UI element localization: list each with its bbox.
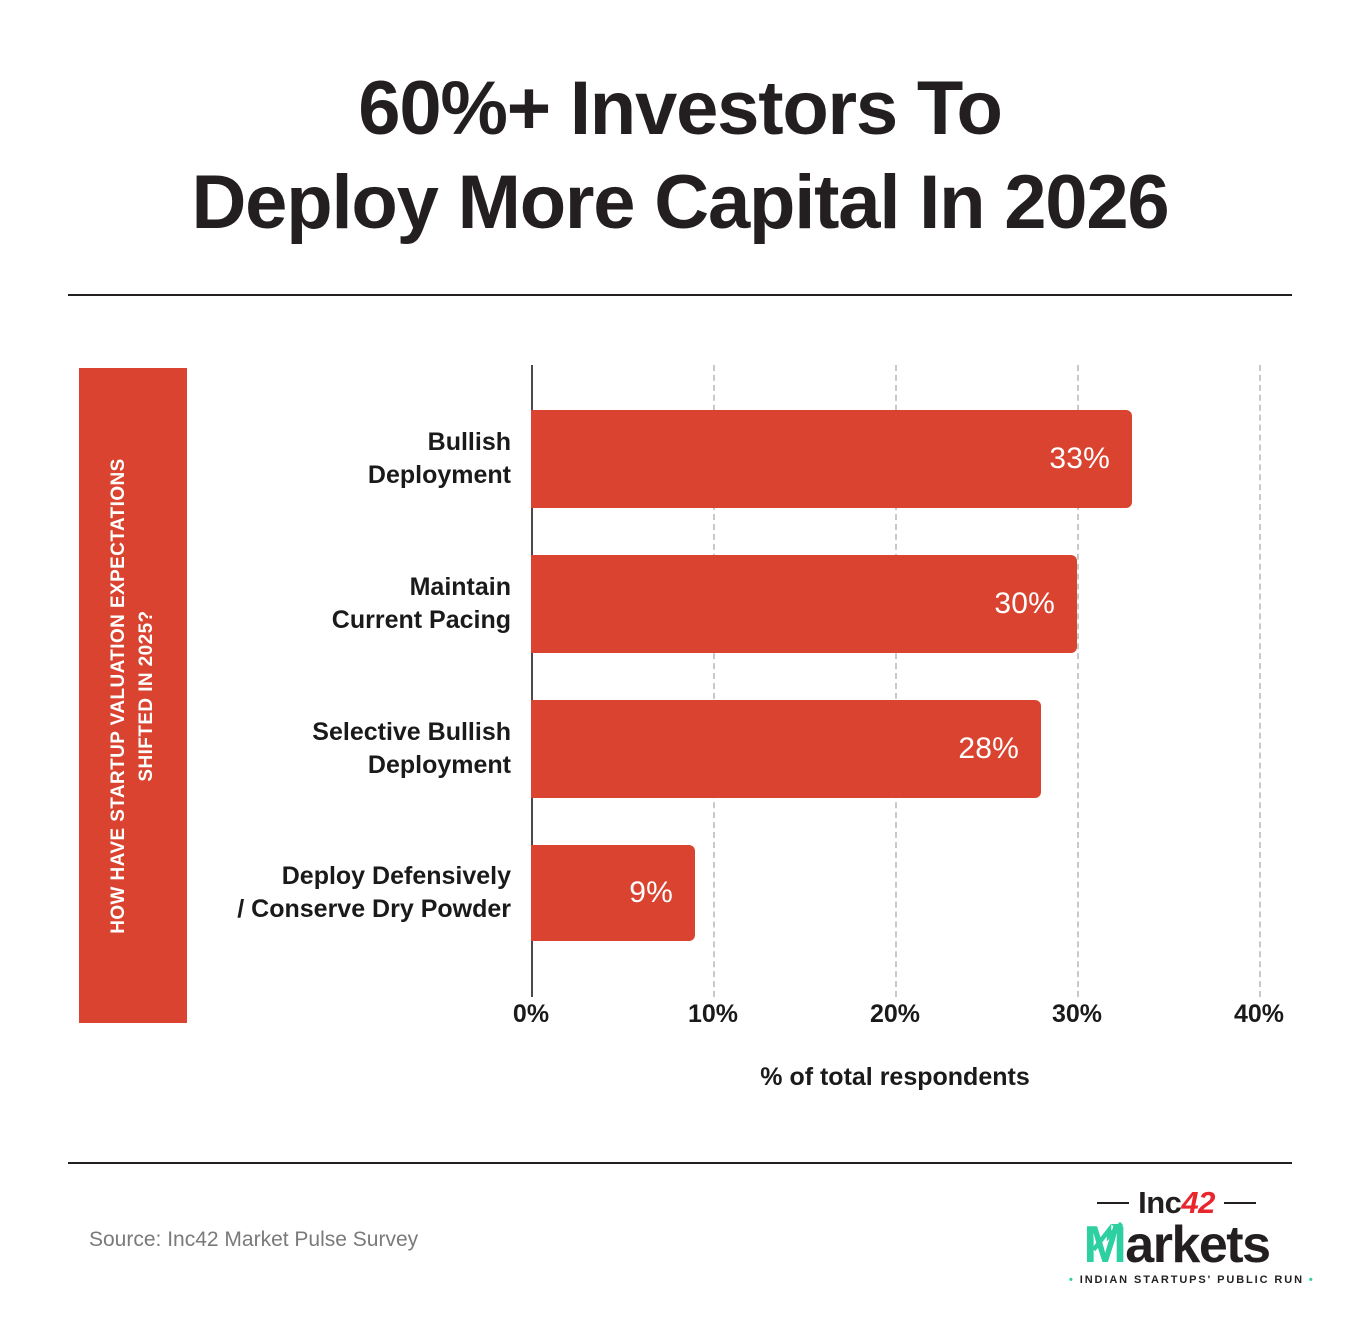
bar-1[interactable]: 30% <box>531 555 1077 653</box>
gridline-30 <box>1077 365 1079 997</box>
page-title: 60%+ Investors To Deploy More Capital In… <box>0 62 1360 250</box>
bar-row-3: 9% <box>531 845 695 941</box>
logo-dash-left-icon <box>1097 1202 1129 1204</box>
category-label-3-line-2: / Conserve Dry Powder <box>151 893 511 926</box>
bar-0[interactable]: 33% <box>531 410 1132 508</box>
category-label-1-line-1: Maintain <box>151 571 511 604</box>
y-axis-line <box>531 365 533 997</box>
question-banner: HOW HAVE STARTUP VALUATION EXPECTATIONS … <box>79 368 187 1023</box>
bar-value-1: 30% <box>994 587 1055 621</box>
bar-row-2: 28% <box>531 700 1041 798</box>
question-banner-line-2: SHIFTED IN 2025? <box>133 368 161 1023</box>
title-line-1: 60%+ Investors To <box>0 62 1360 156</box>
question-banner-line-1: HOW HAVE STARTUP VALUATION EXPECTATIONS <box>105 368 133 1023</box>
category-label-2-line-2: Deployment <box>151 749 511 782</box>
gridline-10 <box>713 365 715 997</box>
logo-tagline-text: INDIAN STARTUPS' PUBLIC RUN <box>1080 1274 1304 1286</box>
logo-dash-right-icon <box>1224 1202 1256 1204</box>
logo-tagline: • INDIAN STARTUPS' PUBLIC RUN • <box>1069 1274 1284 1286</box>
question-banner-text: HOW HAVE STARTUP VALUATION EXPECTATIONS … <box>105 368 161 1023</box>
bar-row-1: 30% <box>531 555 1077 653</box>
bar-3[interactable]: 9% <box>531 845 695 941</box>
title-line-2: Deploy More Capital In 2026 <box>0 156 1360 250</box>
category-label-2-line-1: Selective Bullish <box>151 716 511 749</box>
gridline-40 <box>1259 365 1261 997</box>
logo-brand-number: 42 <box>1181 1185 1214 1220</box>
logo-markets-wordmark: Markets <box>1069 1218 1284 1272</box>
category-label-1: Maintain Current Pacing <box>151 571 511 637</box>
category-label-2: Selective Bullish Deployment <box>151 716 511 782</box>
bar-row-0: 33% <box>531 410 1132 508</box>
inc42-markets-logo: Inc42 Markets • INDIAN STARTUPS' PUBLIC … <box>1069 1186 1284 1286</box>
xtick-label-0: 0% <box>513 1000 549 1029</box>
bar-value-2: 28% <box>958 732 1019 766</box>
logo-top-row: Inc42 <box>1069 1186 1284 1220</box>
xtick-label-1: 10% <box>688 1000 738 1029</box>
bar-value-0: 33% <box>1049 442 1110 476</box>
category-label-3-line-1: Deploy Defensively <box>151 860 511 893</box>
logo-tagline-dot-right: • <box>1309 1274 1315 1286</box>
xtick-label-2: 20% <box>870 1000 920 1029</box>
logo-inc42-wordmark: Inc42 <box>1138 1186 1215 1220</box>
xtick-label-4: 40% <box>1234 1000 1284 1029</box>
growth-arrow-icon <box>1093 1222 1123 1252</box>
logo-tagline-dot-left: • <box>1069 1274 1075 1286</box>
category-label-0-line-2: Deployment <box>151 459 511 492</box>
logo-markets-rest: arkets <box>1125 1216 1269 1274</box>
logo-brand-text: Inc <box>1138 1185 1181 1220</box>
divider-bottom <box>68 1162 1292 1164</box>
bar-2[interactable]: 28% <box>531 700 1041 798</box>
divider-top <box>68 294 1292 296</box>
category-label-0: Bullish Deployment <box>151 426 511 492</box>
gridline-20 <box>895 365 897 997</box>
category-label-3: Deploy Defensively / Conserve Dry Powder <box>151 860 511 926</box>
category-label-0-line-1: Bullish <box>151 426 511 459</box>
source-text: Source: Inc42 Market Pulse Survey <box>89 1228 418 1252</box>
bar-value-3: 9% <box>629 876 673 910</box>
category-label-1-line-2: Current Pacing <box>151 604 511 637</box>
xtick-label-3: 30% <box>1052 1000 1102 1029</box>
x-axis-title: % of total respondents <box>531 1063 1259 1092</box>
